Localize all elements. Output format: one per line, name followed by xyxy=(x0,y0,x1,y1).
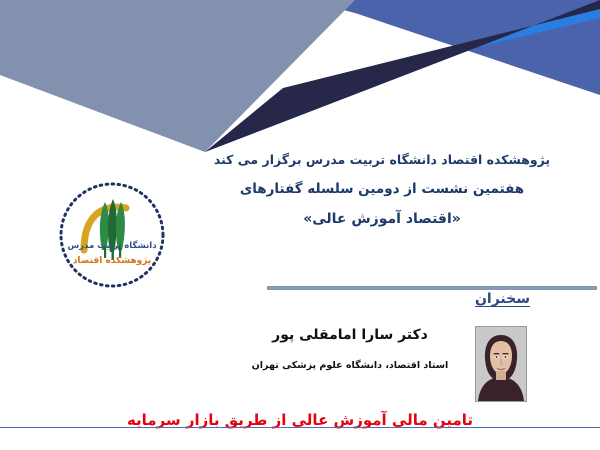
bottom-rule xyxy=(0,427,600,428)
portrait-pupil-right xyxy=(505,356,507,358)
headline-line-3-series-title: «اقتصاد آموزش عالی» xyxy=(172,211,592,229)
speaker-label: سخنران xyxy=(475,291,530,307)
speaker-affiliation: استاد اقتصاد، دانشگاه علوم پزشکی تهران xyxy=(200,360,500,371)
section-divider-bar xyxy=(267,286,597,290)
institute-logo: دانشگاه تربیت مدرس پژوهشکده اقتصاد xyxy=(44,180,180,290)
poster-canvas: دانشگاه تربیت مدرس پژوهشکده اقتصاد پژوهش… xyxy=(0,0,600,450)
speaker-name: دکتر سارا امامقلی پور xyxy=(200,327,500,343)
headline-block: پژوهشکده اقتصاد دانشگاه تربیت مدرس برگزا… xyxy=(172,152,592,232)
headline-line-1: پژوهشکده اقتصاد دانشگاه تربیت مدرس برگزا… xyxy=(172,152,592,168)
banner-shape-slate xyxy=(0,0,355,152)
speaker-portrait-photo xyxy=(475,326,527,402)
portrait-neck xyxy=(496,371,506,380)
banner-graphic xyxy=(0,0,600,160)
portrait-brow-right xyxy=(503,353,509,354)
portrait-pupil-left xyxy=(496,356,498,358)
logo-university-text: دانشگاه تربیت مدرس xyxy=(44,242,180,251)
headline-line-2: هفتمین نشست از دومین سلسله گفتارهای xyxy=(172,181,592,198)
logo-institute-text: پژوهشکده اقتصاد xyxy=(44,257,180,267)
portrait-brow-left xyxy=(494,353,500,354)
